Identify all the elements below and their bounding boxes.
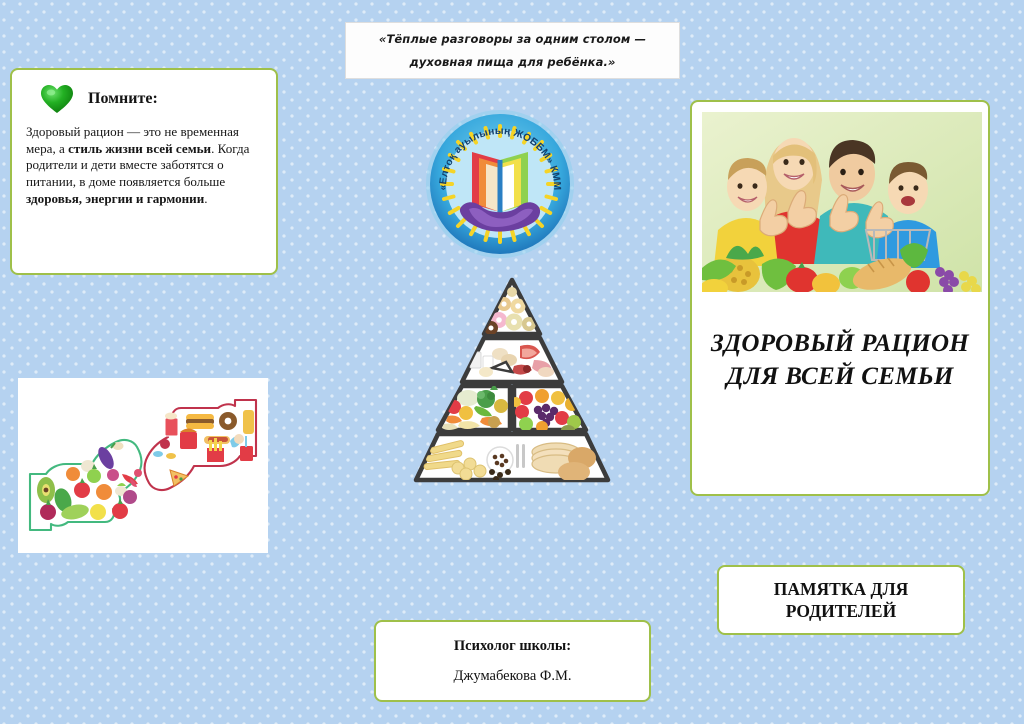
memo-line-2: РОДИТЕЛЕЙ: [774, 600, 909, 622]
psychologist-box: Психолог школы: Джумабекова Ф.М.: [374, 620, 651, 702]
brochure-page: «Тёплые разговоры за одним столом — духо…: [0, 0, 1024, 724]
pyramid-tier-grains: [416, 434, 608, 482]
thumbs-comparison-image: [18, 378, 268, 553]
pyramid-tier-vegetables: [438, 384, 510, 430]
pyramid-tier-fruits: [511, 386, 586, 435]
remember-card: Помните: Здоровый рацион — это не времен…: [10, 68, 278, 275]
quote-box: «Тёплые разговоры за одним столом — духо…: [345, 22, 680, 79]
cover-title: ЗДОРОВЫЙ РАЦИОН ДЛЯ ВСЕЙ СЕМЬИ: [692, 327, 988, 393]
family-photo: [702, 112, 982, 292]
pyramid-tier-sweets: [484, 280, 540, 335]
cover-title-line-1: ЗДОРОВЫЙ РАЦИОН: [692, 327, 988, 360]
psychologist-name: Джумабекова Ф.М.: [454, 668, 572, 685]
psychologist-role: Психолог школы:: [454, 638, 571, 655]
food-pyramid-image: [396, 272, 628, 488]
remember-header: Помните:: [40, 84, 262, 114]
quote-line-2: духовная пища для ребёнка.»: [410, 55, 616, 69]
remember-body: Здоровый рацион — это не временная мера,…: [26, 124, 262, 207]
school-logo: «Елтоқ ауылының ЖОББМ» КММ: [424, 108, 576, 260]
cover-title-line-2: ДЛЯ ВСЕЙ СЕМЬИ: [692, 360, 988, 393]
memo-line-1: ПАМЯТКА ДЛЯ: [774, 578, 909, 600]
memo-text: ПАМЯТКА ДЛЯ РОДИТЕЛЕЙ: [774, 578, 909, 622]
pyramid-tier-protein-dairy: [462, 338, 562, 382]
quote-line-1: «Тёплые разговоры за одним столом —: [379, 32, 646, 46]
cover-panel: ЗДОРОВЫЙ РАЦИОН ДЛЯ ВСЕЙ СЕМЬИ: [690, 100, 990, 496]
memo-box: ПАМЯТКА ДЛЯ РОДИТЕЛЕЙ: [717, 565, 965, 635]
green-heart-icon: [40, 84, 74, 114]
remember-title: Помните:: [88, 90, 158, 108]
open-book-icon: [472, 152, 528, 214]
